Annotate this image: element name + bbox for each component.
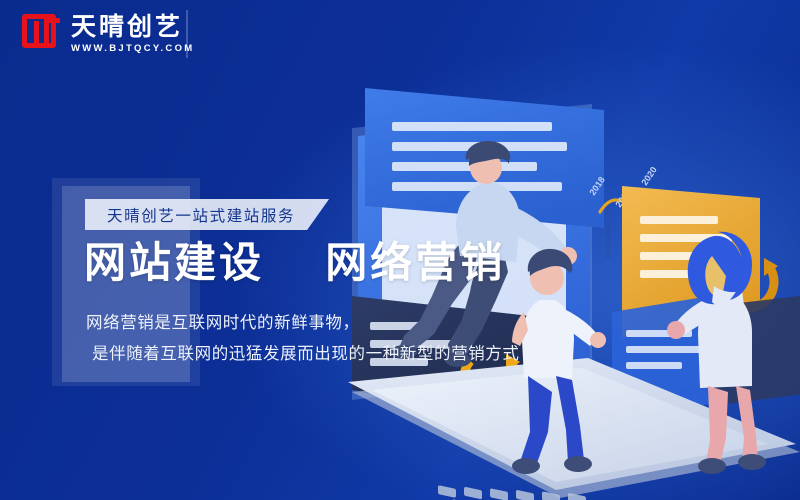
hero-tagline-banner: 天晴创艺一站式建站服务 bbox=[85, 199, 329, 230]
hero-tagline-text: 天晴创艺一站式建站服务 bbox=[107, 204, 295, 226]
hero-banner: 2018 2019 2020 2021 bbox=[0, 0, 800, 500]
page-title: 网站建设 网络营销 bbox=[84, 238, 505, 288]
hero-subtitle-line-2: 是伴随着互联网的迅猛发展而出现的一种新型的营销方式 bbox=[86, 339, 520, 370]
logo-divider bbox=[186, 10, 188, 58]
hero-subtitle-line-1: 网络营销是互联网时代的新鲜事物， bbox=[86, 308, 520, 339]
headline-part-1: 网站建设 bbox=[84, 238, 264, 287]
chart-year-2020: 2020 bbox=[639, 165, 658, 187]
logo-company-name: 天晴创艺 bbox=[71, 14, 195, 40]
tianqing-square-logo-icon bbox=[22, 14, 62, 54]
headline-part-2: 网络营销 bbox=[325, 238, 505, 287]
hero-subtitle: 网络营销是互联网时代的新鲜事物， 是伴随着互联网的迅猛发展而出现的一种新型的营销… bbox=[86, 308, 520, 369]
logo-website-url: WWW.BJTQCY.COM bbox=[71, 43, 195, 54]
site-logo[interactable]: 天晴创艺 WWW.BJTQCY.COM bbox=[22, 14, 195, 54]
